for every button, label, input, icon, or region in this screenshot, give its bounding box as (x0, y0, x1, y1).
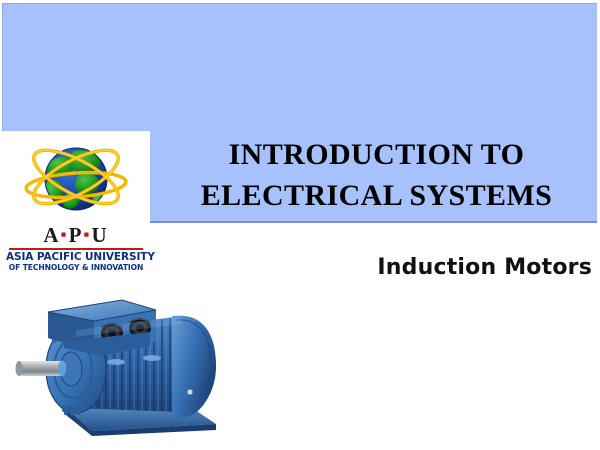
motor-fan-cover (172, 316, 216, 418)
title-line-2: ELECTRICAL SYSTEMS (155, 175, 598, 216)
apu-separator-dot-1: ▪ (61, 225, 69, 244)
apu-divider-rule (9, 248, 143, 250)
apu-university-tagline: OF TECHNOLOGY & INNOVATION (6, 263, 146, 273)
title-banner-top (2, 3, 597, 133)
title-line-1: INTRODUCTION TO (155, 134, 598, 175)
presentation-slide: INTRODUCTION TO ELECTRICAL SYSTEMS Induc… (0, 0, 600, 450)
page-title: INTRODUCTION TO ELECTRICAL SYSTEMS (155, 134, 598, 216)
apu-university-name: ASIA PACIFIC UNIVERSITY (6, 251, 146, 263)
apu-letter-a: A (43, 223, 60, 247)
apu-letters: A▪P▪U (6, 224, 146, 246)
apu-logo: A▪P▪U ASIA PACIFIC UNIVERSITY OF TECHNOL… (0, 131, 150, 270)
apu-letter-p: P (69, 223, 84, 247)
slide-subtitle: Induction Motors (300, 255, 592, 280)
apu-letter-u: U (91, 223, 108, 247)
induction-motor-image (4, 276, 274, 448)
globe-atom-icon (24, 133, 129, 225)
apu-wordmark: A▪P▪U ASIA PACIFIC UNIVERSITY OF TECHNOL… (6, 224, 146, 273)
